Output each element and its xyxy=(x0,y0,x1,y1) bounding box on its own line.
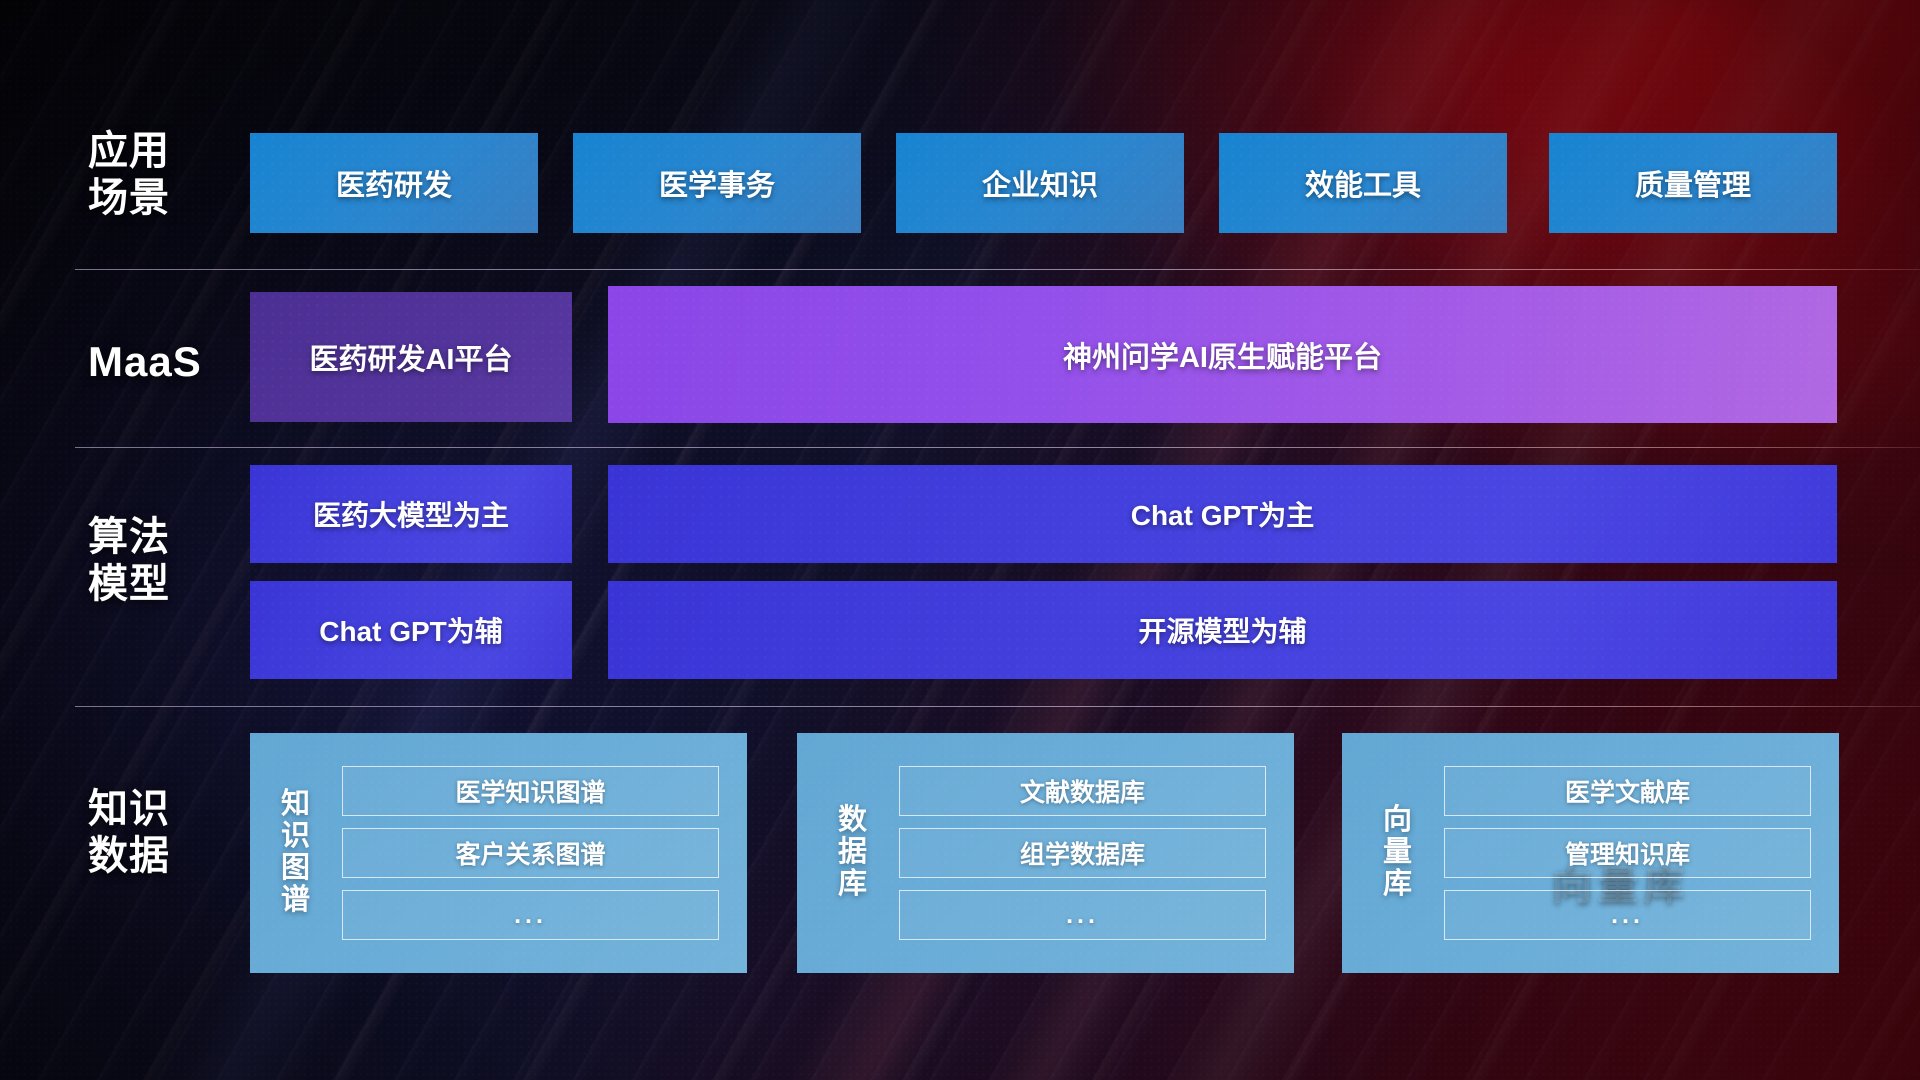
row-label-application-line-2: 场景 xyxy=(88,175,238,222)
algorithm-card-chatgpt-secondary[interactable]: Chat GPT为辅 xyxy=(250,581,572,679)
row-label-application-line-1: 应用 xyxy=(88,128,238,175)
knowledge-item-omics-database[interactable]: 组学数据库 xyxy=(899,828,1266,878)
knowledge-group-1-title-char-2: 识 xyxy=(281,821,311,853)
row-label-maas-line-1: MaaS xyxy=(88,337,238,387)
application-card-1[interactable]: 医药研发 xyxy=(250,133,538,233)
row-label-knowledge-line-1: 知识 xyxy=(88,786,238,833)
divider-maas-algorithm xyxy=(75,447,1920,448)
knowledge-item-omics-database-label: 组学数据库 xyxy=(1020,835,1145,871)
knowledge-group-1-title-char-4: 谱 xyxy=(281,885,311,917)
algorithm-card-pharma-llm-primary-label: 医药大模型为主 xyxy=(313,494,509,534)
knowledge-group-knowledge-graph-title: 知 识 图 谱 xyxy=(272,733,320,973)
knowledge-item-more-2[interactable]: ... xyxy=(899,890,1266,940)
knowledge-item-more-1-label: ... xyxy=(514,901,547,930)
knowledge-group-3-title-char-1: 向 xyxy=(1383,805,1413,837)
knowledge-item-more-3[interactable]: ... xyxy=(1444,890,1811,940)
knowledge-item-medical-knowledge-graph[interactable]: 医学知识图谱 xyxy=(342,766,719,816)
knowledge-item-literature-database-label: 文献数据库 xyxy=(1020,773,1145,809)
knowledge-item-literature-database[interactable]: 文献数据库 xyxy=(899,766,1266,816)
application-card-4-label: 效能工具 xyxy=(1305,162,1421,204)
knowledge-group-1-title-char-1: 知 xyxy=(281,789,311,821)
application-card-5[interactable]: 质量管理 xyxy=(1549,133,1837,233)
row-label-algorithm-line-1: 算法 xyxy=(88,514,238,561)
row-label-knowledge-line-2: 数据 xyxy=(88,833,238,880)
knowledge-item-management-knowledge-base[interactable]: 管理知识库 xyxy=(1444,828,1811,878)
maas-card-pharma-ai-platform-label: 医药研发AI平台 xyxy=(309,336,512,378)
algorithm-card-opensource-secondary[interactable]: 开源模型为辅 xyxy=(608,581,1837,679)
knowledge-item-more-1[interactable]: ... xyxy=(342,890,719,940)
knowledge-item-management-knowledge-base-label: 管理知识库 xyxy=(1565,835,1690,871)
knowledge-group-knowledge-graph[interactable]: 知 识 图 谱 医学知识图谱 客户关系图谱 ... xyxy=(250,733,747,973)
knowledge-item-customer-relation-graph-label: 客户关系图谱 xyxy=(455,835,605,871)
algorithm-card-chatgpt-primary-label: Chat GPT为主 xyxy=(1131,494,1315,534)
application-card-3[interactable]: 企业知识 xyxy=(896,133,1184,233)
knowledge-group-database-title: 数 据 库 xyxy=(829,733,877,973)
knowledge-group-2-title-char-3: 库 xyxy=(838,869,868,901)
divider-application-maas xyxy=(75,269,1920,270)
knowledge-group-3-title-char-3: 库 xyxy=(1383,869,1413,901)
knowledge-group-vector-database[interactable]: 向量库 向 量 库 医学文献库 管理知识库 ... xyxy=(1342,733,1839,973)
row-label-maas: MaaS xyxy=(88,337,238,387)
knowledge-item-more-3-label: ... xyxy=(1611,901,1644,930)
application-card-5-label: 质量管理 xyxy=(1635,162,1751,204)
knowledge-item-medical-literature-library[interactable]: 医学文献库 xyxy=(1444,766,1811,816)
application-card-2-label: 医学事务 xyxy=(659,162,775,204)
maas-card-shenzhou-platform-label: 神州问学AI原生赋能平台 xyxy=(1063,334,1382,376)
row-label-application: 应用 场景 xyxy=(88,128,238,222)
knowledge-item-more-2-label: ... xyxy=(1066,901,1099,930)
algorithm-card-pharma-llm-primary[interactable]: 医药大模型为主 xyxy=(250,465,572,563)
knowledge-group-1-title-char-3: 图 xyxy=(281,853,311,885)
knowledge-group-2-title-char-1: 数 xyxy=(838,805,868,837)
knowledge-group-database-items: 文献数据库 组学数据库 ... xyxy=(899,733,1266,973)
knowledge-item-medical-knowledge-graph-label: 医学知识图谱 xyxy=(455,773,605,809)
application-card-2[interactable]: 医学事务 xyxy=(573,133,861,233)
row-label-algorithm-line-2: 模型 xyxy=(88,561,238,608)
row-label-knowledge: 知识 数据 xyxy=(88,786,238,880)
maas-card-pharma-ai-platform[interactable]: 医药研发AI平台 xyxy=(250,292,572,422)
knowledge-group-database[interactable]: 数 据 库 文献数据库 组学数据库 ... xyxy=(797,733,1294,973)
knowledge-group-knowledge-graph-items: 医学知识图谱 客户关系图谱 ... xyxy=(342,733,719,973)
algorithm-card-chatgpt-secondary-label: Chat GPT为辅 xyxy=(319,610,503,650)
knowledge-group-2-title-char-2: 据 xyxy=(838,837,868,869)
architecture-diagram: 应用 场景 医药研发 医学事务 企业知识 效能工具 质量管理 MaaS 医药研发… xyxy=(0,0,1920,1080)
application-card-3-label: 企业知识 xyxy=(982,162,1098,204)
application-card-1-label: 医药研发 xyxy=(336,162,452,204)
knowledge-item-medical-literature-library-label: 医学文献库 xyxy=(1565,773,1690,809)
knowledge-group-vector-database-items: 医学文献库 管理知识库 ... xyxy=(1444,733,1811,973)
knowledge-item-customer-relation-graph[interactable]: 客户关系图谱 xyxy=(342,828,719,878)
knowledge-group-vector-database-title: 向 量 库 xyxy=(1374,733,1422,973)
maas-card-shenzhou-platform[interactable]: 神州问学AI原生赋能平台 xyxy=(608,286,1837,423)
row-label-algorithm: 算法 模型 xyxy=(88,514,238,608)
algorithm-card-chatgpt-primary[interactable]: Chat GPT为主 xyxy=(608,465,1837,563)
divider-algorithm-knowledge xyxy=(75,706,1920,707)
knowledge-group-3-title-char-2: 量 xyxy=(1383,837,1413,869)
application-card-4[interactable]: 效能工具 xyxy=(1219,133,1507,233)
algorithm-card-opensource-secondary-label: 开源模型为辅 xyxy=(1138,610,1306,650)
